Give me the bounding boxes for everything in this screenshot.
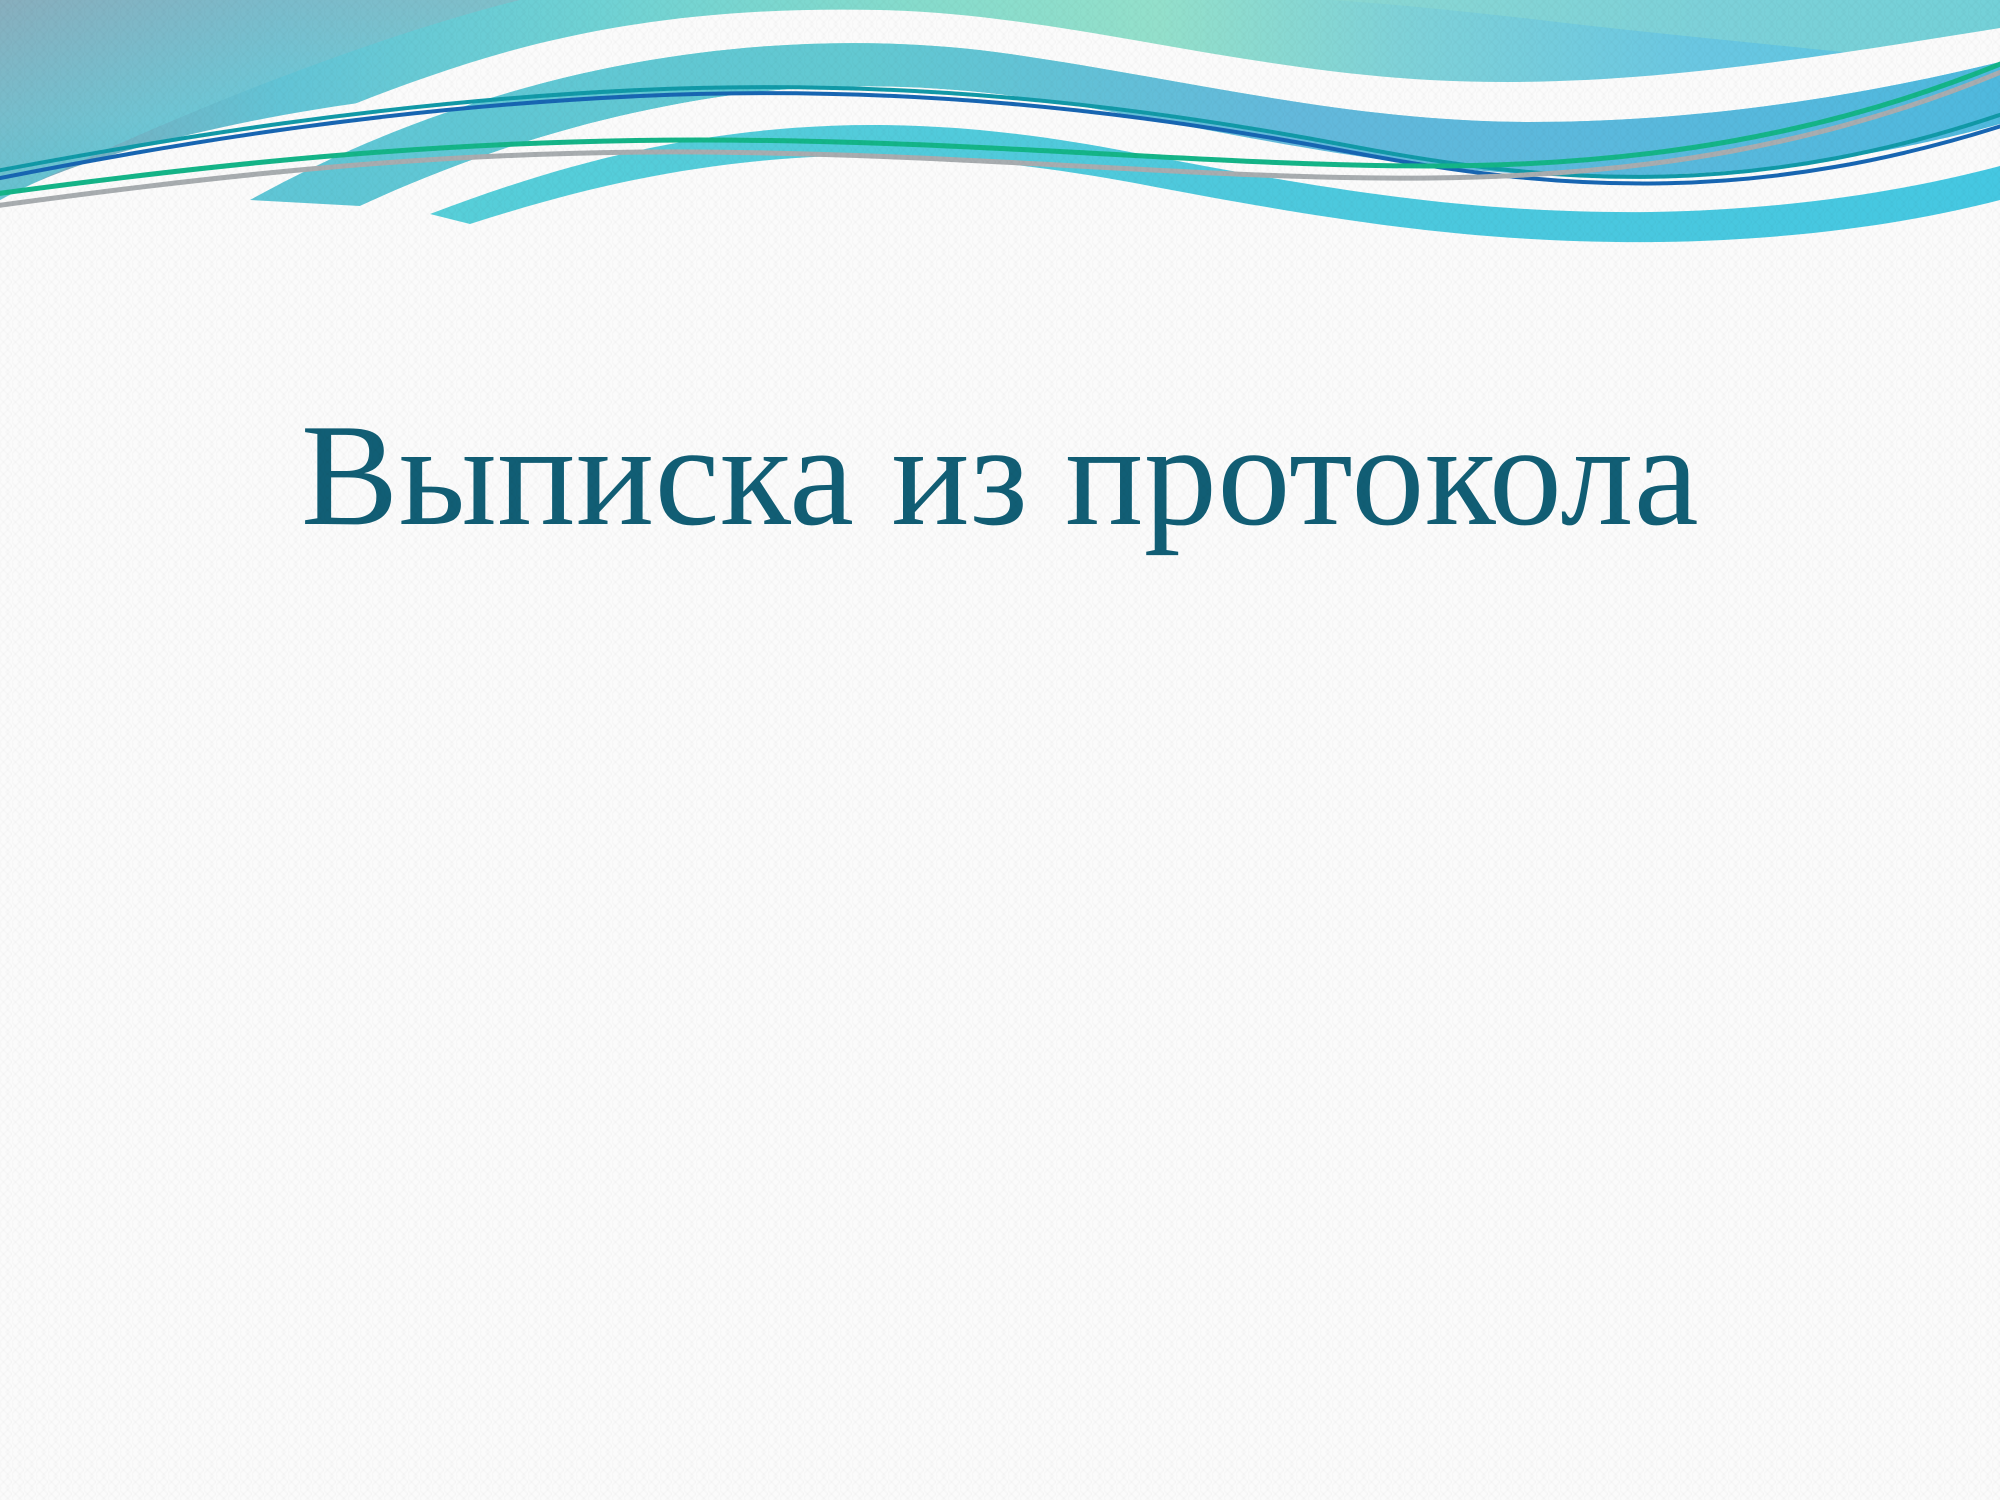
content-placeholder[interactable] <box>150 700 1850 1340</box>
title-placeholder[interactable]: Выписка из протокола <box>130 395 1870 556</box>
page-title: Выписка из протокола <box>130 395 1870 556</box>
presentation-slide: Выписка из протокола <box>0 0 2000 1500</box>
flow-wave-header-graphic <box>0 0 2000 260</box>
